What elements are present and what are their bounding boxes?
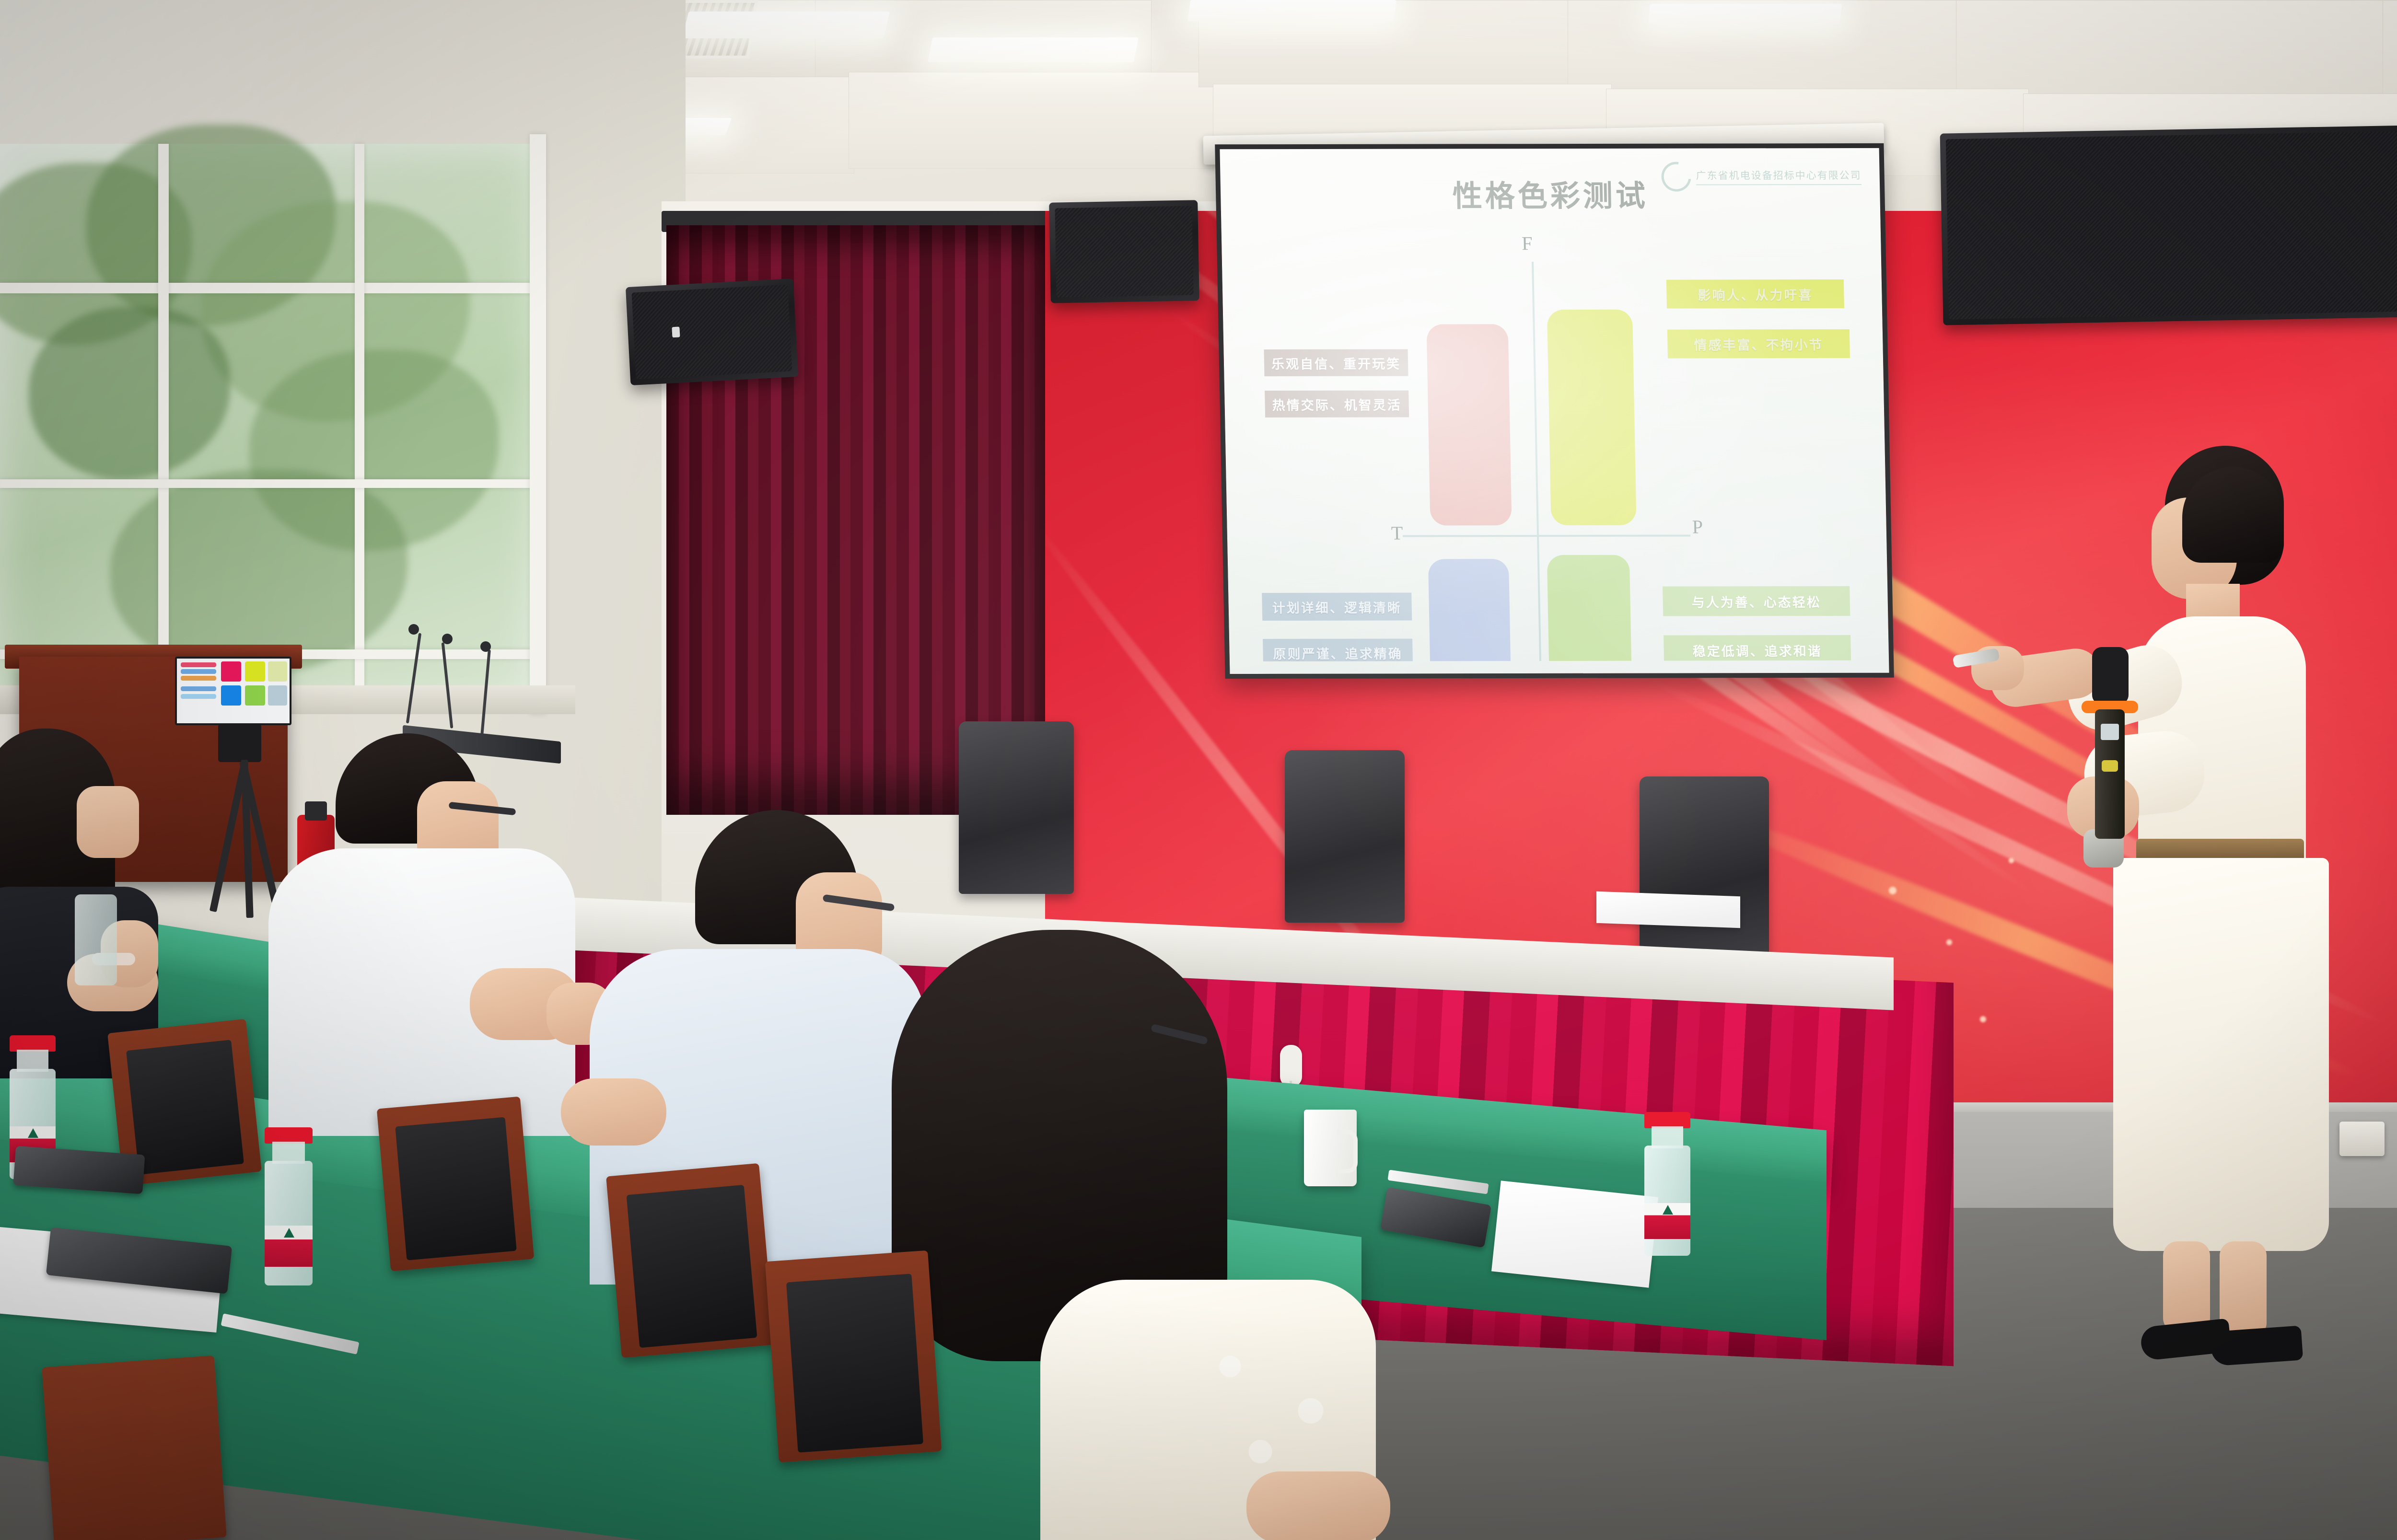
wall-speaker (1940, 125, 2397, 325)
stage-chair[interactable] (1285, 750, 1405, 923)
microphone-display-icon (2101, 724, 2119, 740)
ceiling-light (683, 12, 890, 38)
quadrant-card-blue (1428, 559, 1513, 661)
handheld-microphone[interactable] (2090, 647, 2128, 839)
microphone-head-icon (2092, 647, 2129, 705)
trait-tag: 原则严谨、追求精确 (1263, 638, 1413, 661)
trait-tag: 乐观自信、重开玩笑 (1264, 349, 1408, 377)
ceiling-light (928, 37, 1139, 62)
wooden-chair-cushion (786, 1274, 923, 1452)
microphone-capsule-icon (408, 624, 419, 635)
wooden-chair-cushion (395, 1117, 517, 1261)
microphone-capsule-icon (442, 634, 453, 644)
trait-tag: 计划详细、逻辑清晰 (1262, 592, 1412, 621)
trait-tag: 热情交际、机智灵活 (1265, 391, 1409, 418)
projection-screen: 广东省机电设备招标中心有限公司 性格色彩测试 F S T P 乐观自信、重开玩笑… (1215, 143, 1894, 679)
axis-label-right: P (1692, 515, 1703, 538)
stage-chair[interactable] (1640, 776, 1769, 959)
wall-speaker (1049, 200, 1199, 303)
water-bottle[interactable] (265, 1127, 313, 1285)
paper-sheet (1491, 1181, 1658, 1287)
trait-tag: 影响人、从力吁喜 (1666, 279, 1844, 309)
slide-content: 广东省机电设备招标中心有限公司 性格色彩测试 F S T P 乐观自信、重开玩笑… (1233, 161, 1876, 661)
trait-tag: 稳定低调、追求和谐 (1664, 635, 1851, 661)
window (0, 144, 537, 709)
axis-label-left: T (1391, 522, 1403, 544)
wooden-chair-cushion (627, 1185, 757, 1348)
quadrant-card-red (1426, 324, 1512, 525)
paper-sheet (1596, 892, 1740, 928)
microphone-capsule-icon (480, 641, 491, 652)
ceiling-light (1648, 4, 1842, 24)
wooden-chair-back[interactable] (42, 1355, 227, 1540)
presenter-shoe (2210, 1325, 2304, 1366)
trait-tag: 与人为善、心态轻松 (1663, 586, 1850, 616)
axis-horizontal (1403, 534, 1690, 537)
wooden-chair[interactable] (2387, 882, 2397, 1409)
attendee-woman-lace (882, 930, 1409, 1540)
water-bottle[interactable] (1644, 1112, 1690, 1256)
quadrant-card-yellow (1547, 310, 1637, 525)
lace-pattern (1170, 1313, 1371, 1491)
ceiling-light (1187, 0, 1396, 21)
axis-vertical (1532, 262, 1543, 661)
presenter (1994, 446, 2397, 1395)
axis-label-top: F (1522, 232, 1533, 255)
microphone-button-icon (2102, 760, 2118, 772)
meeting-room-photo: 2025 年 06 月 05 星期 4 15:55:18 广东省机电设备招标中心… (0, 0, 2397, 1540)
ceiling-speaker (626, 278, 798, 385)
slide-title: 性格色彩测试 (1233, 171, 1868, 215)
water-bottle[interactable] (75, 894, 117, 985)
attendee-woman-dark-top (0, 729, 230, 1064)
trait-tag: 情感丰富、不拘小节 (1667, 329, 1850, 359)
lectern-monitor[interactable] (175, 657, 291, 725)
power-outlet[interactable] (2339, 1122, 2385, 1156)
wooden-chair-cushion (126, 1040, 244, 1175)
presenter-dress-skirt (2113, 858, 2329, 1251)
quadrant-card-green (1547, 555, 1633, 661)
